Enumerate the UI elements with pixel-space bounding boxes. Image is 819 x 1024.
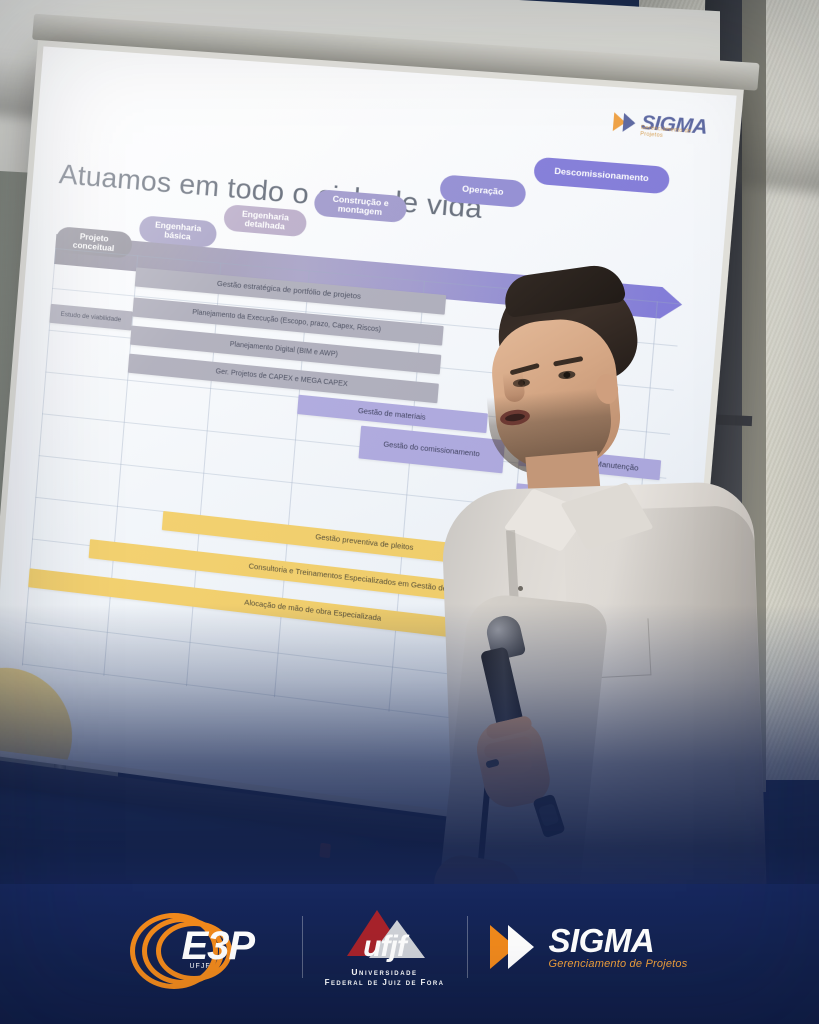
phase-tab-2: Engenharia detalhada xyxy=(223,204,307,237)
screenshot-root: SIGMA Gerenciamento de Projetos Atuamos … xyxy=(0,0,819,1024)
e3p-subtext: UFJF xyxy=(190,963,211,970)
logo-ufjf: ufjf Universidade Federal de Juiz de For… xyxy=(303,904,467,990)
presenter-nose xyxy=(502,371,525,403)
phase-tab-5: Descomissionamento xyxy=(533,157,670,195)
sigma-double-chevron-icon xyxy=(490,922,540,972)
slide-sigma-logo: SIGMA Gerenciamento de Projetos xyxy=(613,110,708,140)
logo-sigma: SIGMA Gerenciamento de Projetos xyxy=(468,904,712,990)
ufjf-name-line1: Universidade xyxy=(351,967,417,977)
ufjf-wordmark: ufjf xyxy=(363,930,406,964)
screen-pull-knob xyxy=(319,843,331,859)
logo-e3p: E3P UFJF xyxy=(108,904,302,990)
sigma-chevron-blue-icon xyxy=(623,113,637,133)
sigma-wordmark: SIGMA xyxy=(549,924,688,957)
ufjf-name-line2: Federal de Juiz de Fora xyxy=(325,978,445,987)
sigma-tagline: Gerenciamento de Projetos xyxy=(549,959,688,970)
presenter xyxy=(420,268,780,908)
footer-logo-row: E3P UFJF ufjf Universidade Federal de Ju… xyxy=(0,904,819,990)
service-bar-1: Estudo de viabilidade xyxy=(49,304,132,331)
